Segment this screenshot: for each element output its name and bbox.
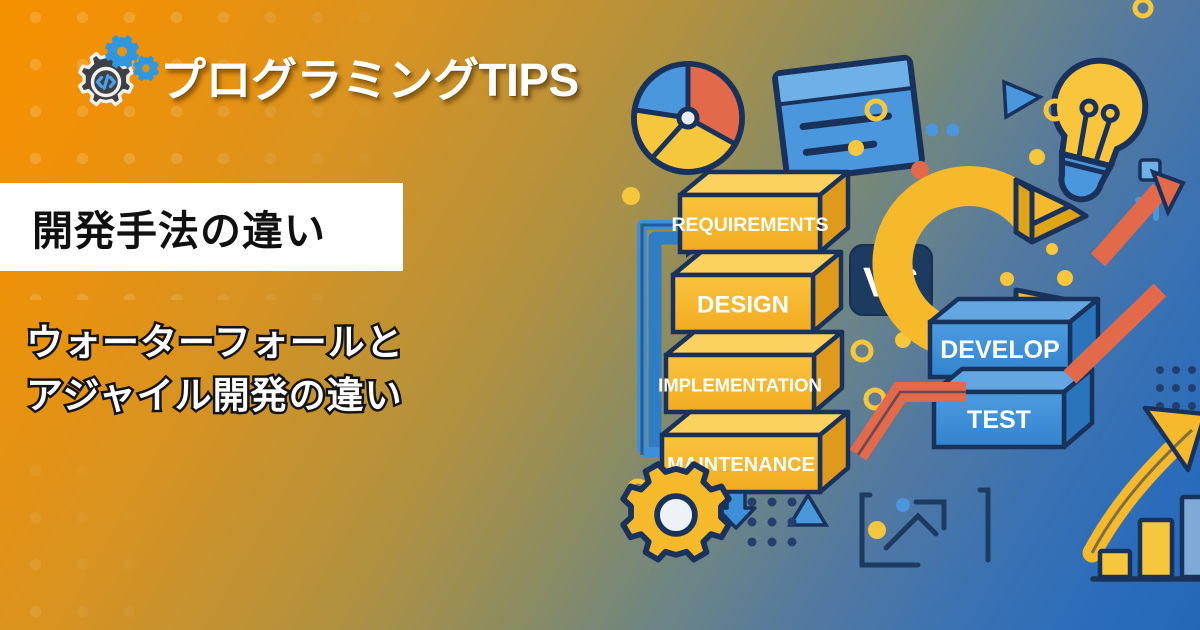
triangle-icon: [1004, 82, 1040, 117]
agile-step-box: TEST: [934, 369, 1092, 447]
document-card-icon: [774, 57, 922, 181]
subtitle-line-2: アジャイル開発の違い: [26, 370, 566, 423]
gear-code-logo-icon: [58, 30, 162, 122]
waterfall-step-label: IMPLEMENTATION: [658, 375, 822, 396]
waterfall-step-label: DESIGN: [697, 292, 789, 319]
lightbulb-icon: [1032, 51, 1155, 210]
poster-canvas: プログラミングTIPS 開発手法の違い ウォーターフォールと アジャイル開発の違…: [0, 0, 1200, 630]
agile-step-label: DEVELOP: [940, 336, 1059, 364]
dot-pattern-bottom-left: [0, 430, 260, 630]
pie-chart-icon: [634, 64, 742, 172]
waterfall-step-box: DESIGN: [673, 252, 841, 332]
subtitle-line-1: ウォーターフォールと: [26, 317, 566, 370]
subtitle: ウォーターフォールと アジャイル開発の違い: [26, 317, 566, 422]
brand-title: プログラミングTIPS: [160, 44, 579, 110]
waterfall-step-box: IMPLEMENTATION: [658, 332, 842, 412]
agile-step-label: TEST: [967, 406, 1031, 434]
dot-grid-icon: [748, 498, 797, 547]
methodology-illustration: REQUIREMENTS DESIGN IMPLEMENTATION: [600, 0, 1200, 630]
page-title: 開発手法の違い: [32, 197, 326, 257]
waterfall-step-label: REQUIREMENTS: [671, 214, 828, 236]
waterfall-step-box: REQUIREMENTS: [671, 172, 848, 252]
title-band: 開発手法の違い: [0, 183, 403, 271]
dot-grid-icon: [1156, 366, 1196, 410]
